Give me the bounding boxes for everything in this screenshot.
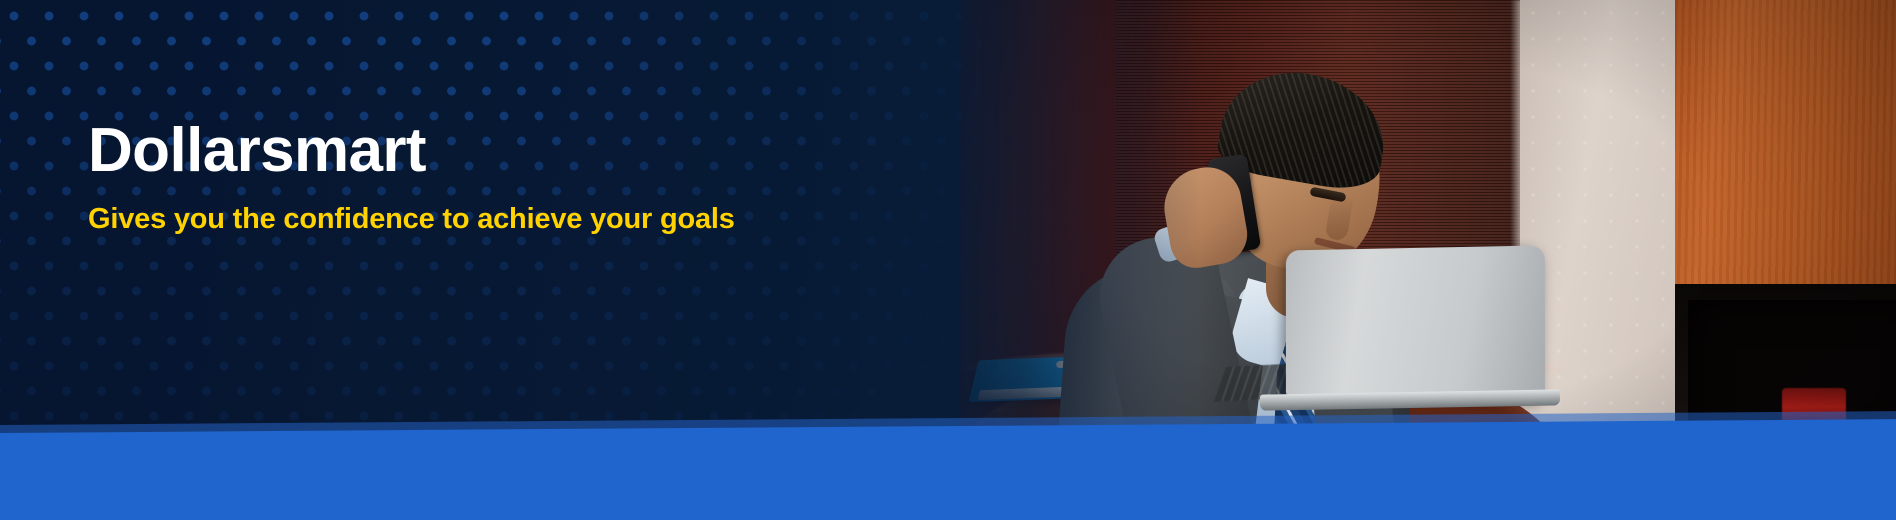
dollarsmart-hero-banner: Dollarsmart Gives you the confidence to … [0, 0, 1896, 520]
page-title: Dollarsmart [88, 118, 948, 185]
shelf-paper [1780, 428, 1890, 444]
hero-photo [820, 0, 1896, 520]
page-subtitle: Gives you the confidence to achieve your… [88, 201, 948, 237]
wood-cabinet-lower [1675, 470, 1896, 520]
laptop-lid [1286, 245, 1545, 400]
navy-overlay-panel [0, 0, 960, 520]
red-glass-object [1782, 388, 1846, 430]
wood-cabinet-upper [1675, 0, 1896, 284]
hero-text-block: Dollarsmart Gives you the confidence to … [88, 118, 948, 237]
